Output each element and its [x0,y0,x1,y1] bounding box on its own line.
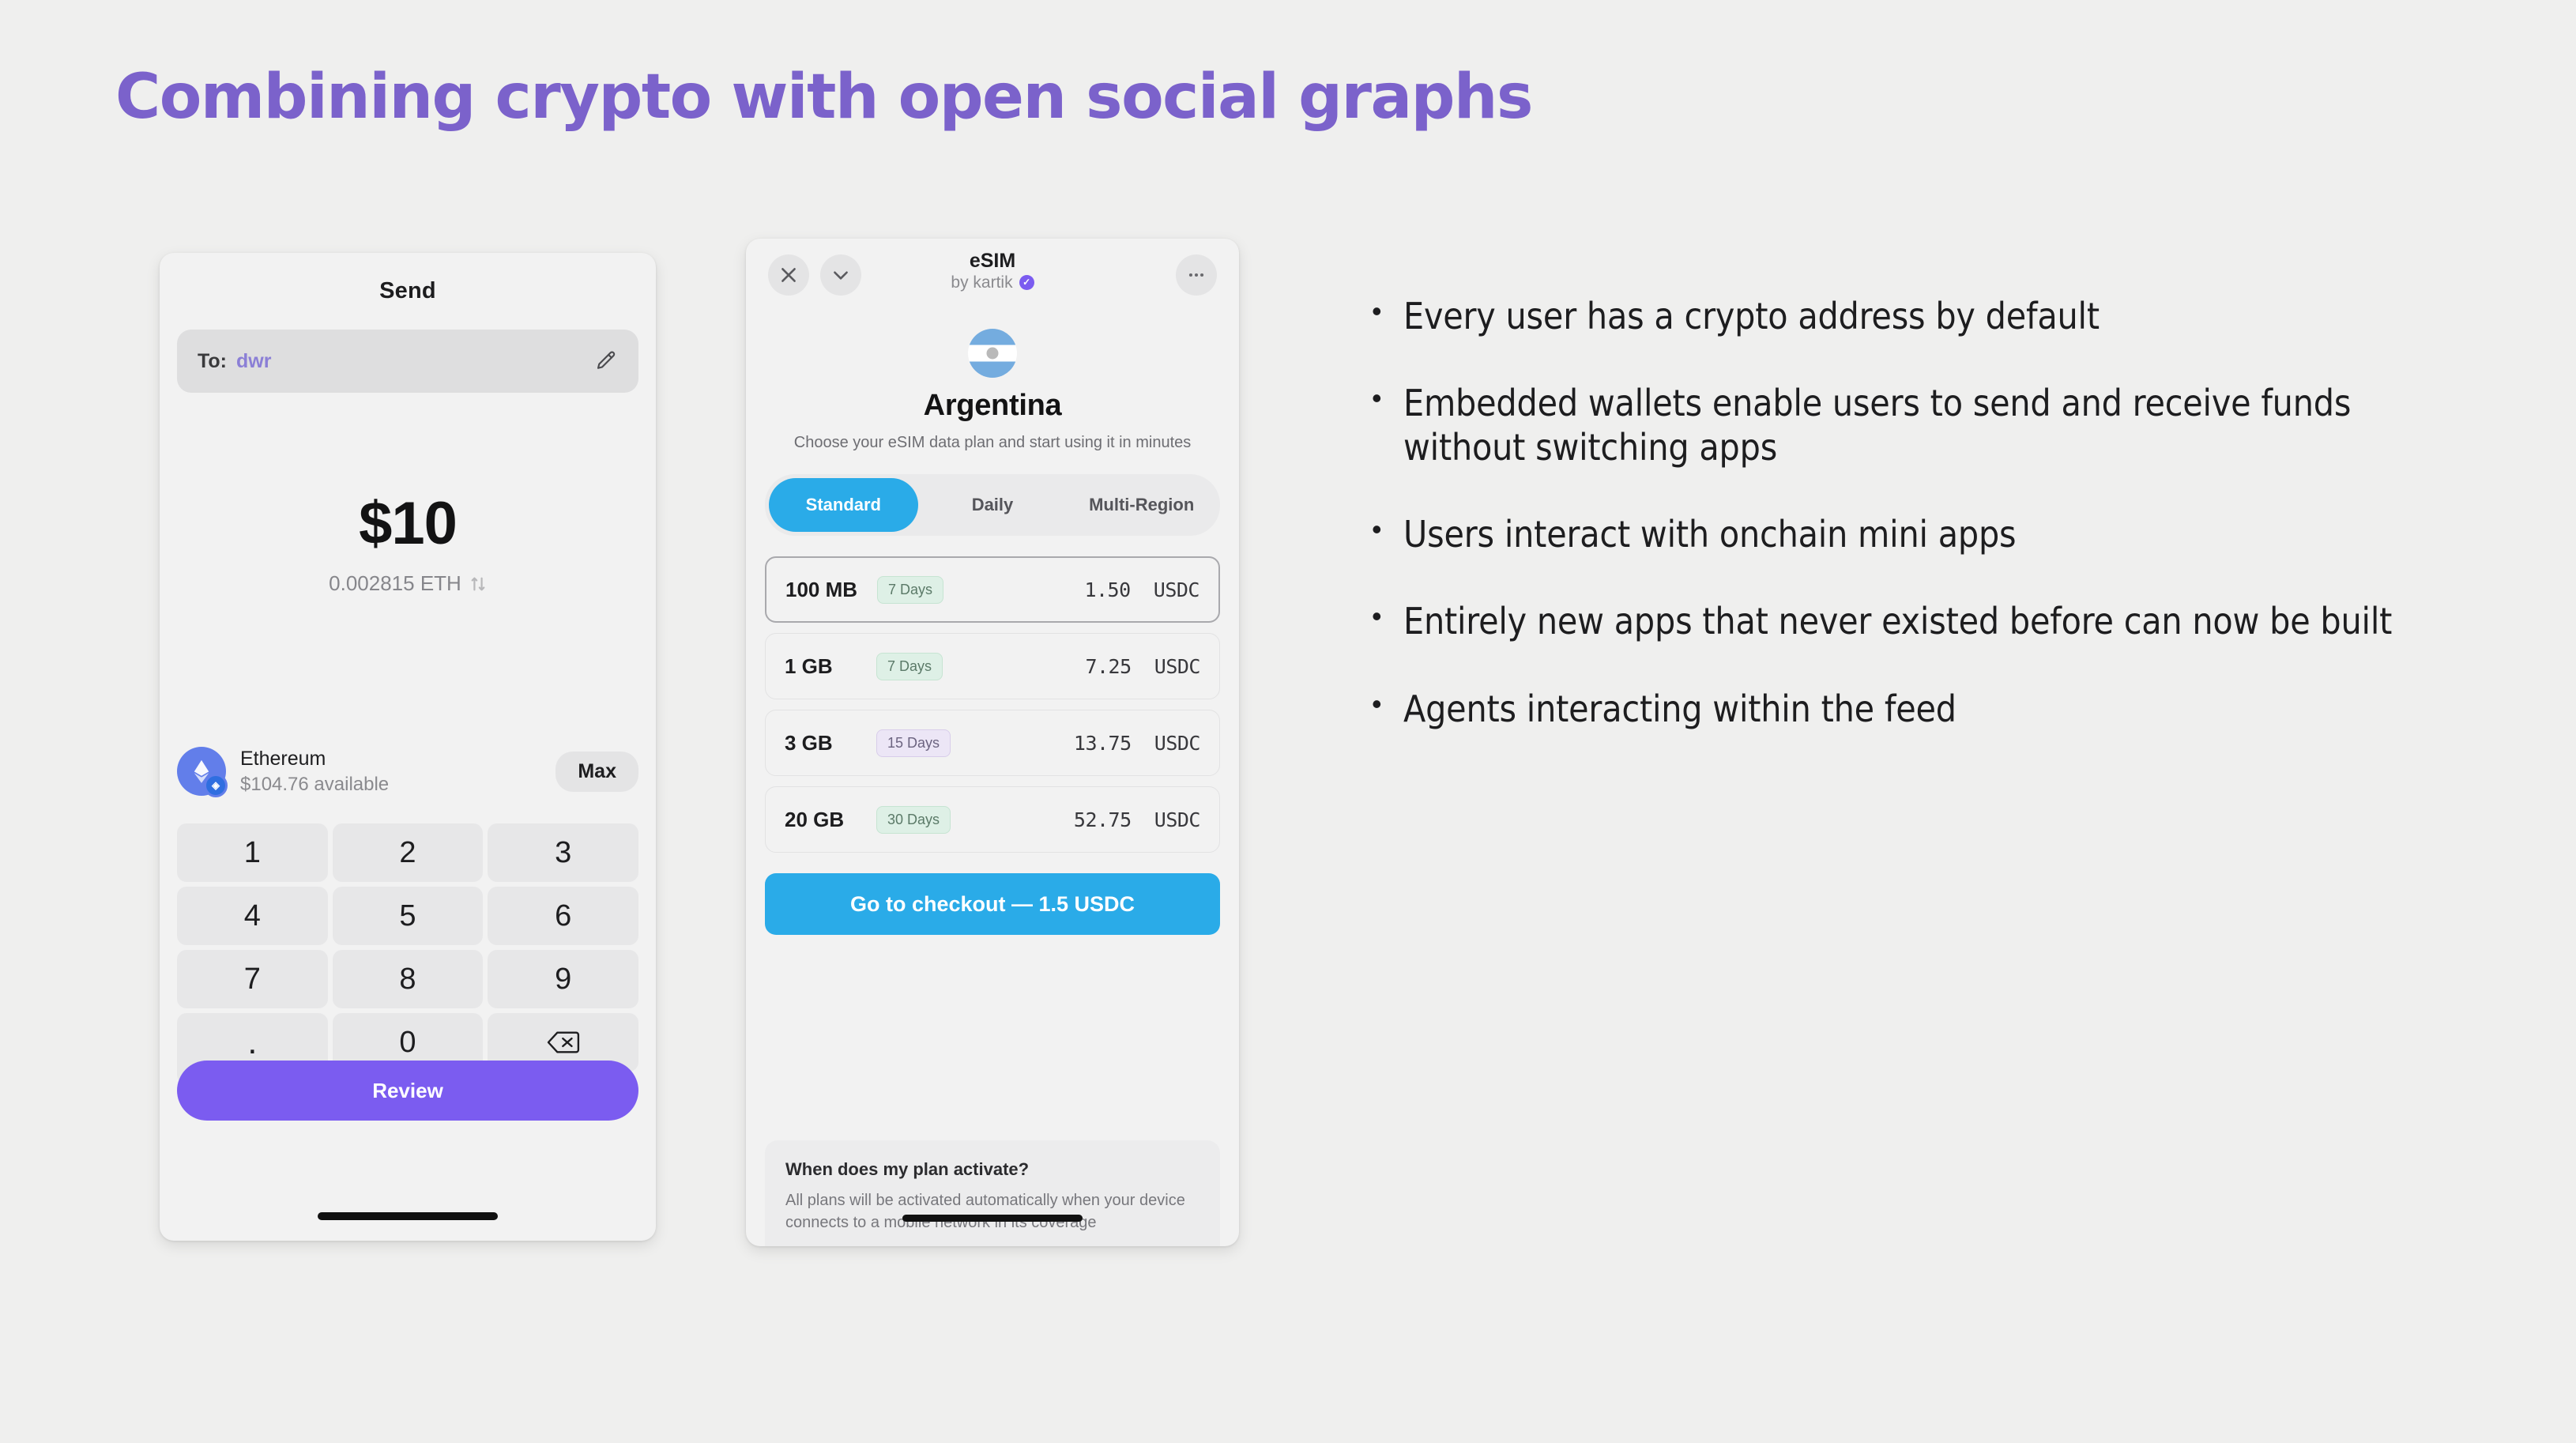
plan-duration-badge: 7 Days [877,576,943,604]
bullet-point-icon: • [1372,512,1403,547]
plan-row[interactable]: 3 GB 15 Days 13.75 USDC [765,710,1220,776]
recipient-label: To: [198,350,227,373]
plan-type-tabs: Standard Daily Multi-Region [765,474,1220,536]
list-item: • Agents interacting within the feed [1372,687,2478,731]
page-title: Combining crypto with open social graphs [115,62,1532,133]
plan-size: 100 MB [785,578,877,602]
key-8[interactable]: 8 [333,950,484,1008]
faq-answer: All plans will be activated automaticall… [785,1189,1199,1234]
plan-row[interactable]: 100 MB 7 Days 1.50 USDC [765,556,1220,623]
plan-row[interactable]: 20 GB 30 Days 52.75 USDC [765,786,1220,853]
token-selector-row[interactable]: ◈ Ethereum $104.76 available Max [177,747,638,796]
key-4[interactable]: 4 [177,887,328,945]
pencil-icon[interactable] [594,349,618,373]
plan-list: 100 MB 7 Days 1.50 USDC 1 GB 7 Days 7.25… [765,556,1220,853]
flag-sun [987,348,999,360]
country-title: Argentina [746,389,1239,423]
esim-app-title: eSIM [746,250,1239,273]
country-subtitle: Choose your eSIM data plan and start usi… [746,434,1239,452]
esim-phone-mockup: eSIM by kartik ✓ Argentina Choose your e… [746,239,1239,1246]
key-1[interactable]: 1 [177,823,328,882]
amount-crypto: 0.002815 ETH [329,571,461,596]
bullet-text: Entirely new apps that never existed bef… [1403,599,2392,643]
token-info: Ethereum $104.76 available [240,748,389,796]
bullet-point-icon: • [1372,294,1403,329]
tab-multi-region[interactable]: Multi-Region [1067,478,1216,532]
key-2[interactable]: 2 [333,823,484,882]
numeric-keypad: 1 2 3 4 5 6 7 8 9 . 0 [177,823,638,1084]
send-phone-mockup: Send To: dwr $10 0.002815 ETH [160,253,656,1241]
esim-topbar: eSIM by kartik ✓ [746,239,1239,311]
plan-duration-badge: 7 Days [876,653,943,680]
verified-check-icon: ✓ [1019,275,1034,290]
plan-price: 1.50 USDC [1084,578,1199,601]
list-item: • Every user has a crypto address by def… [1372,294,2478,338]
plan-size: 1 GB [785,654,876,679]
amount-display: $10 0.002815 ETH [160,494,656,596]
list-item: • Entirely new apps that never existed b… [1372,599,2478,643]
plan-row[interactable]: 1 GB 7 Days 7.25 USDC [765,633,1220,699]
bullet-text: Agents interacting within the feed [1403,687,1956,731]
bullet-point-icon: • [1372,687,1403,721]
token-name: Ethereum [240,748,389,770]
tab-daily[interactable]: Daily [918,478,1068,532]
checkout-button[interactable]: Go to checkout — 1.5 USDC [765,873,1220,935]
bullet-list: • Every user has a crypto address by def… [1372,294,2478,774]
plan-size: 3 GB [785,731,876,755]
key-3[interactable]: 3 [488,823,638,882]
key-7[interactable]: 7 [177,950,328,1008]
bullet-point-icon: • [1372,599,1403,634]
token-balance: $104.76 available [240,774,389,796]
recipient-value: dwr [236,350,271,373]
plan-price: 13.75 USDC [1074,732,1200,755]
recipient-field[interactable]: To: dwr [177,330,638,393]
plan-price: 52.75 USDC [1074,808,1200,831]
esim-app-author: by kartik [951,273,1012,292]
key-6[interactable]: 6 [488,887,638,945]
review-button[interactable]: Review [177,1061,638,1121]
max-button[interactable]: Max [555,752,638,792]
faq-card[interactable]: When does my plan activate? All plans wi… [765,1140,1220,1246]
faq-question: When does my plan activate? [785,1159,1199,1180]
bullet-text: Every user has a crypto address by defau… [1403,294,2100,338]
send-screen-title: Send [160,278,656,304]
plan-price: 7.25 USDC [1085,655,1200,678]
more-horizontal-icon[interactable] [1176,254,1217,296]
home-indicator [318,1212,498,1220]
plan-duration-badge: 30 Days [876,806,951,834]
swap-vertical-icon[interactable] [469,575,487,593]
plan-size: 20 GB [785,808,876,832]
ethereum-icon: ◈ [177,747,226,796]
argentina-flag-icon [968,329,1017,378]
bullet-text: Embedded wallets enable users to send an… [1403,381,2478,469]
amount-fiat: $10 [160,494,656,554]
slide-canvas: Combining crypto with open social graphs… [0,0,2576,1443]
bullet-point-icon: • [1372,381,1403,416]
esim-app-author-row: by kartik ✓ [951,273,1034,292]
bullet-text: Users interact with onchain mini apps [1403,512,2016,556]
key-5[interactable]: 5 [333,887,484,945]
backspace-icon [547,1030,580,1055]
network-badge-icon: ◈ [204,774,228,797]
key-9[interactable]: 9 [488,950,638,1008]
tab-standard[interactable]: Standard [769,478,918,532]
list-item: • Users interact with onchain mini apps [1372,512,2478,556]
amount-crypto-row[interactable]: 0.002815 ETH [160,571,656,596]
close-icon[interactable] [768,254,809,296]
plan-duration-badge: 15 Days [876,729,951,757]
list-item: • Embedded wallets enable users to send … [1372,381,2478,469]
home-indicator [902,1215,1083,1222]
chevron-down-icon[interactable] [820,254,861,296]
